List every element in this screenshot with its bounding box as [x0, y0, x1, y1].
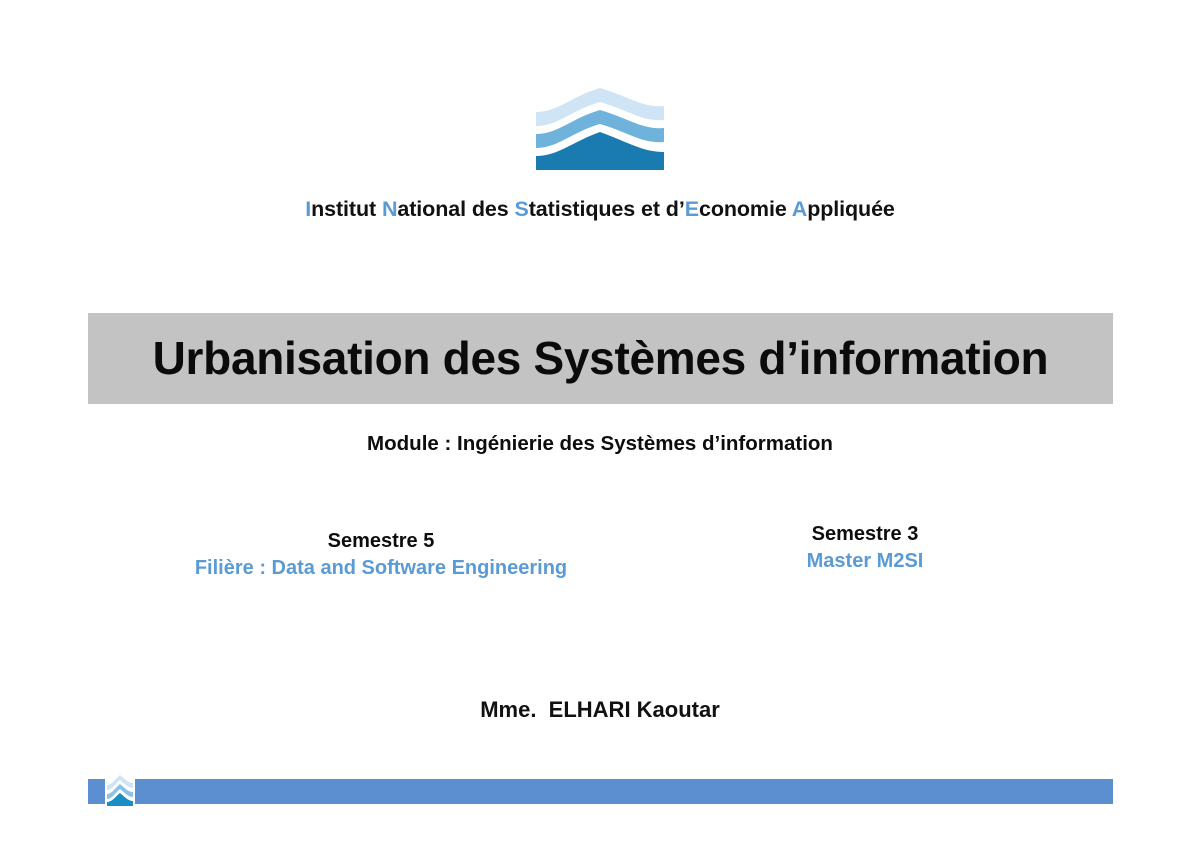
footer-bar [88, 779, 1113, 804]
institute-name-part: N [382, 197, 397, 221]
institute-name-part: nstitut [311, 197, 382, 221]
institute-name-part: ational des [397, 197, 514, 221]
semester-label-left: Semestre 5 [86, 528, 676, 555]
logo-container [0, 82, 1200, 174]
institute-name-part: conomie [699, 197, 792, 221]
insea-wave-logo-icon [532, 82, 668, 174]
institute-name-part: tatistiques et d’ [529, 197, 685, 221]
insea-logo [532, 82, 668, 174]
program-block-right: Semestre 3 Master M2SI [700, 521, 1030, 575]
institute-name-part: ppliquée [807, 197, 895, 221]
page-title: Urbanisation des Systèmes d’information [153, 335, 1049, 381]
instructor-name: Mme. ELHARI Kaoutar [0, 697, 1200, 723]
institute-name-part: S [514, 197, 528, 221]
insea-wave-logo-icon [105, 772, 135, 808]
module-subtitle: Module : Ingénierie des Systèmes d’infor… [0, 432, 1200, 456]
institute-name: Institut National des Statistiques et d’… [0, 197, 1200, 222]
program-block-left: Semestre 5 Filière : Data and Software E… [86, 528, 676, 582]
semester-label-right: Semestre 3 [700, 521, 1030, 548]
footer-logo [105, 772, 135, 808]
track-label-right: Master M2SI [700, 548, 1030, 575]
track-label-left: Filière : Data and Software Engineering [86, 555, 676, 582]
institute-name-part: A [792, 197, 807, 221]
slide-canvas: Institut National des Statistiques et d’… [0, 0, 1200, 849]
institute-name-part: E [685, 197, 699, 221]
title-banner: Urbanisation des Systèmes d’information [88, 313, 1113, 404]
